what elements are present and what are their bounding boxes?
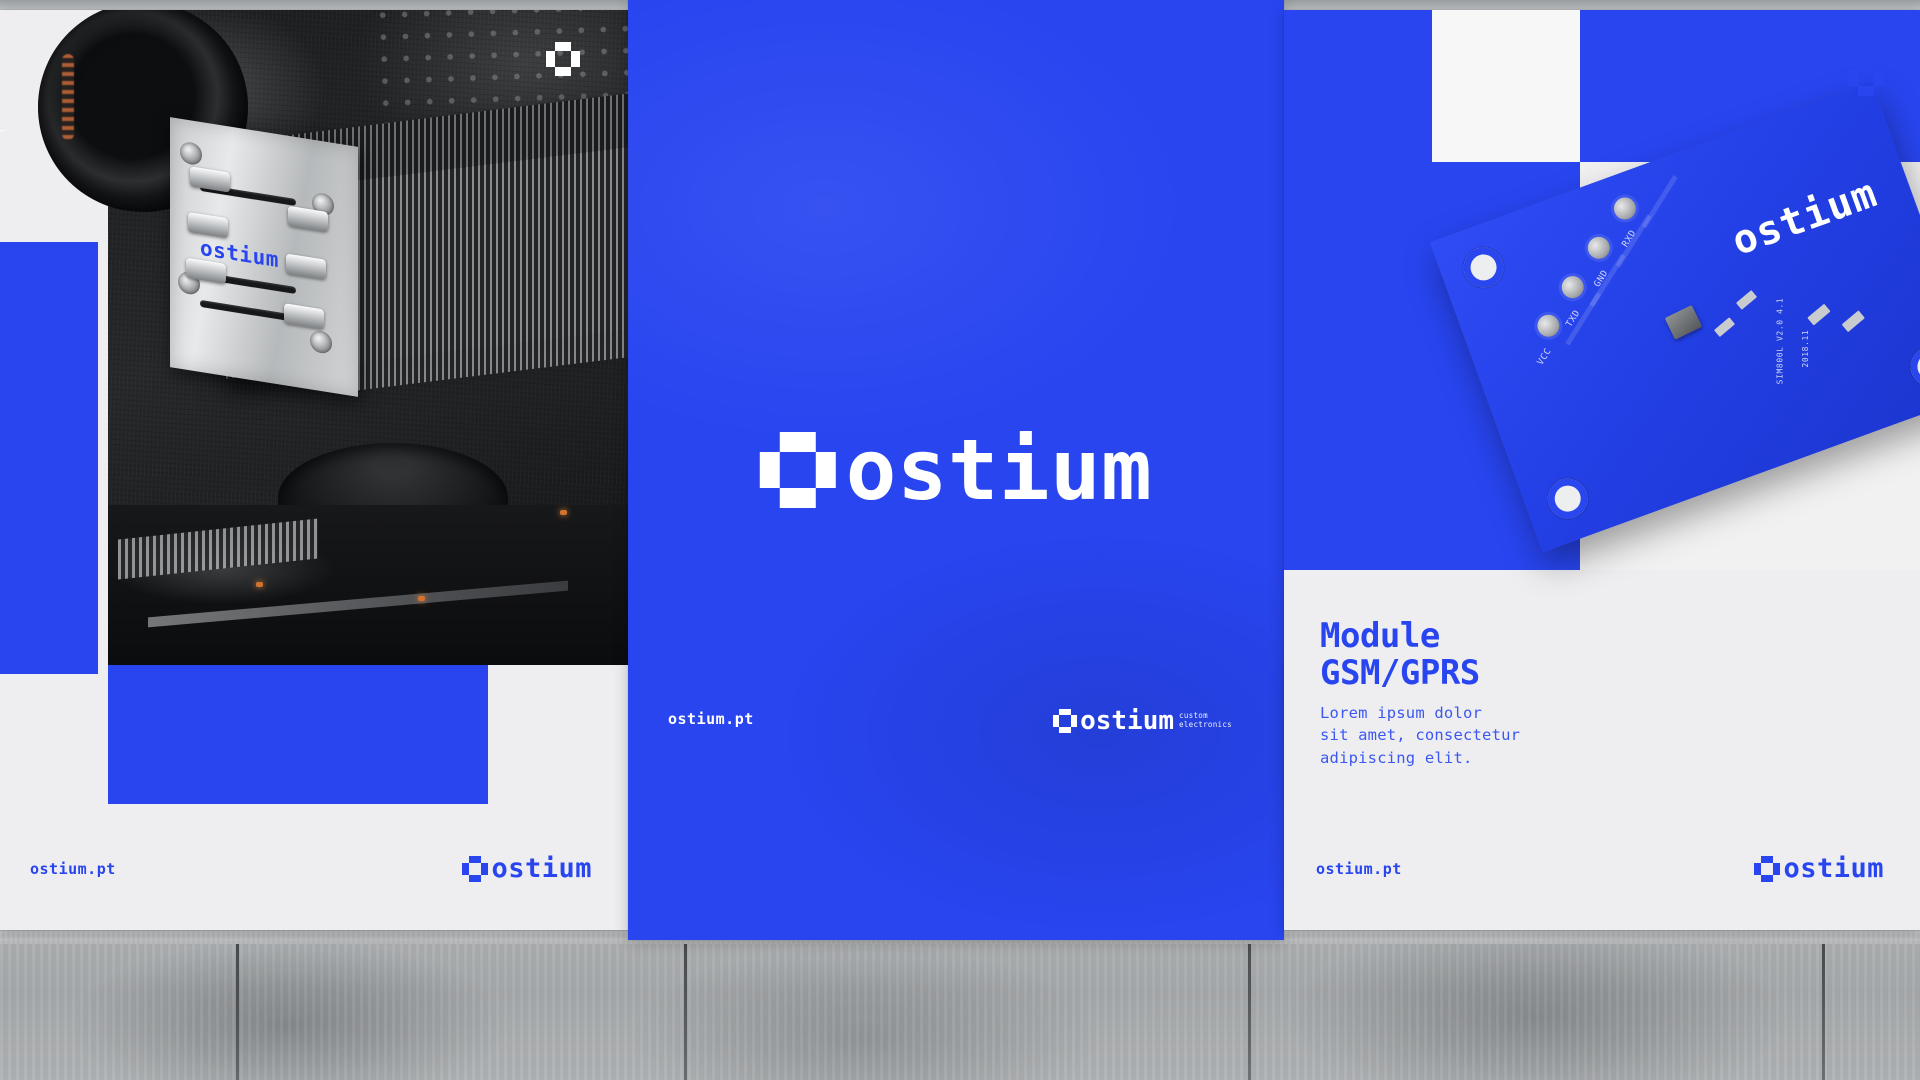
- pin-label-vcc: VCC: [1536, 347, 1554, 368]
- mounting-hole: [1542, 473, 1593, 524]
- body-copy: Lorem ipsum dolor sit amet, consectetur …: [1320, 702, 1520, 769]
- solder-pad: [1611, 194, 1639, 222]
- body-line-2: sit amet, consectetur: [1320, 724, 1520, 746]
- wall-seam: [1822, 944, 1825, 1080]
- plate-screw: [180, 141, 202, 166]
- headline-line-1: Module: [1320, 618, 1480, 655]
- body-line-1: Lorem ipsum dolor: [1320, 702, 1520, 724]
- product-poster: VCC TXD GND RXD SIM800L V2.0 4.1 2018.11…: [1284, 10, 1920, 930]
- board-led: [560, 510, 567, 515]
- checker-cell-white: [1432, 10, 1580, 162]
- footer-logo-word: ostium: [491, 853, 592, 884]
- heatsink-photo: ostium: [108, 10, 628, 665]
- ostium-mark-icon: [1754, 856, 1780, 882]
- board-revision: SIM800L V2.0 4.1: [1775, 298, 1784, 385]
- smd-component: [1807, 304, 1830, 326]
- solder-pad: [1534, 312, 1562, 340]
- plate-rivet: [284, 303, 324, 329]
- footer-url[interactable]: ostium.pt: [30, 860, 116, 878]
- board-silkscreen-logo: ostium: [1726, 170, 1883, 265]
- footer-logo-lockup: ostium custom electronics: [1053, 706, 1232, 736]
- ostium-mark-icon: [760, 432, 836, 508]
- solder-pad: [1559, 273, 1587, 301]
- ic-chip: [1665, 305, 1702, 340]
- plate-rivet: [188, 212, 228, 238]
- plate-rivet: [286, 253, 326, 279]
- footer-logo: ostium: [1754, 853, 1884, 884]
- footer-url[interactable]: ostium.pt: [668, 710, 754, 728]
- blue-block-lower: [108, 664, 488, 804]
- footer-logo-word: ostium: [1080, 706, 1174, 736]
- footer-logo: ostium: [462, 853, 592, 884]
- solder-pad: [1585, 234, 1613, 262]
- footer-url[interactable]: ostium.pt: [1316, 860, 1402, 878]
- wall-lower-panel: [0, 944, 1920, 1080]
- footer-logo-word: ostium: [1783, 853, 1884, 884]
- wall-lower-texture: [0, 944, 1920, 1080]
- photo-poster: ostium ostium.pt: [0, 10, 628, 930]
- ostium-mark-icon: [546, 42, 580, 76]
- checker-cell-blue: [1284, 10, 1432, 162]
- mounting-hole: [1458, 242, 1509, 293]
- body-line-3: adipiscing elit.: [1320, 747, 1520, 769]
- plate-screw: [310, 329, 332, 354]
- wall-seam: [684, 944, 687, 1080]
- mounting-hole: [1905, 341, 1920, 392]
- board-date-code: 2018.11: [1801, 330, 1810, 368]
- fan-grip-detail: [62, 54, 74, 140]
- presentation-canvas: ostium ostium.pt: [0, 0, 1920, 1080]
- hero-logotype-word: ostium: [846, 421, 1152, 519]
- plate-rivet: [190, 166, 230, 192]
- ostium-mark-icon: [462, 856, 488, 882]
- blue-block-left: [0, 242, 98, 674]
- smd-component: [1714, 317, 1735, 337]
- board-led: [256, 582, 263, 587]
- plate-slot: [200, 300, 296, 322]
- logo-poster: ostium ostium.pt ostium custom electroni…: [628, 0, 1284, 940]
- page-title: Module GSM/GPRS: [1320, 618, 1480, 691]
- footer-tagline: custom electronics: [1179, 712, 1232, 729]
- ostium-mark-icon: [1848, 60, 1884, 96]
- hero-logotype: ostium: [760, 421, 1152, 519]
- wall-seam: [1248, 944, 1251, 1080]
- heatsink-fins-front: [358, 144, 628, 391]
- tagline-line-2: electronics: [1179, 721, 1232, 730]
- wall-seam: [236, 944, 239, 1080]
- headline-line-2: GSM/GPRS: [1320, 655, 1480, 692]
- board-led: [418, 596, 425, 601]
- smd-component: [1842, 310, 1865, 332]
- ostium-mark-icon: [1053, 709, 1077, 733]
- smd-component: [1736, 290, 1757, 310]
- pcb-trace: [1642, 175, 1678, 229]
